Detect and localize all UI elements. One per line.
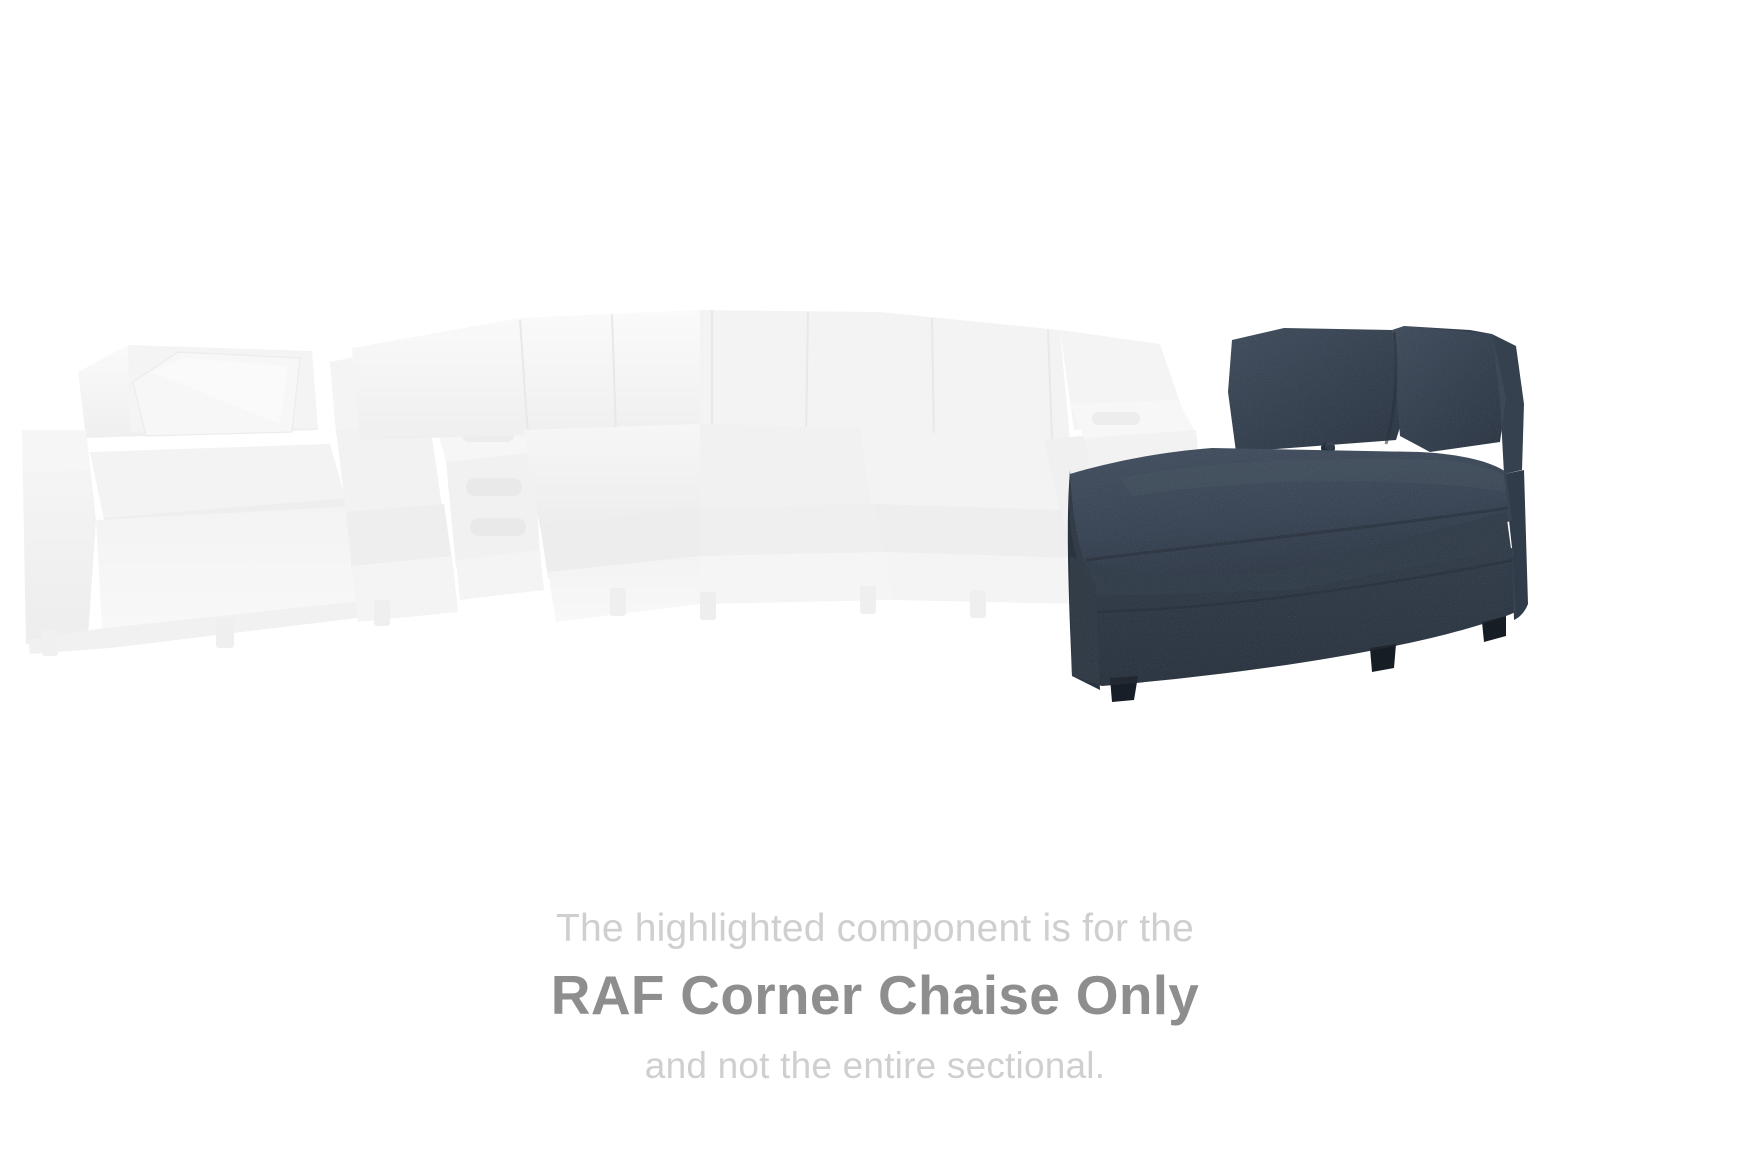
component-name-headline: RAF Corner Chaise Only xyxy=(0,963,1750,1028)
caption-intro-line: The highlighted component is for the xyxy=(0,905,1750,953)
product-figure xyxy=(0,0,1750,800)
product-component-callout-page: The highlighted component is for the RAF… xyxy=(0,0,1750,1167)
caption-disclaimer-line: and not the entire sectional. xyxy=(0,1043,1750,1088)
ghosted-sectional-outline xyxy=(22,310,1212,656)
component-callout-caption: The highlighted component is for the RAF… xyxy=(0,905,1750,1089)
